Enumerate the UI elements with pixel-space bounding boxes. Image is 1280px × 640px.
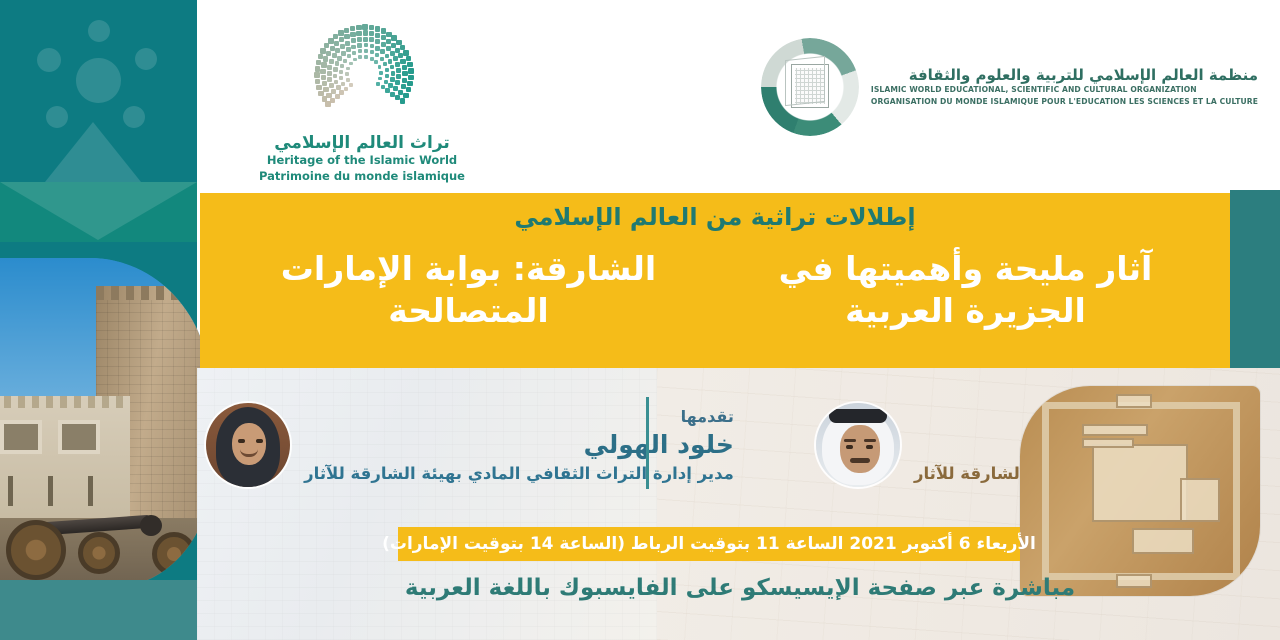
crescent-dot xyxy=(375,46,380,51)
crescent-dot xyxy=(340,44,345,49)
crescent-dot xyxy=(321,62,326,67)
crescent-dot xyxy=(333,67,338,72)
eye-shape xyxy=(256,439,263,443)
crescent-dot xyxy=(406,87,412,93)
eye-shape xyxy=(238,439,245,443)
wall-slot xyxy=(48,476,53,506)
circle-decoration-icon xyxy=(76,58,121,103)
face-shape xyxy=(232,423,266,465)
crescent-dot xyxy=(395,62,400,67)
crescent-dot xyxy=(349,62,353,66)
crescent-dot xyxy=(347,54,351,58)
poster-canvas: تراث العالم الإسلامي Heritage of the Isl… xyxy=(0,0,1280,640)
cannon-wheel xyxy=(6,520,66,580)
crescent-dot xyxy=(390,51,395,56)
crescent-dot xyxy=(316,60,322,66)
crescent-dot xyxy=(370,50,374,54)
crescent-dot xyxy=(353,58,357,62)
crescent-dot xyxy=(375,53,379,57)
crescent-dot xyxy=(406,56,412,62)
crescent-dot xyxy=(339,90,344,95)
poster-header: تراث العالم الإسلامي Heritage of the Isl… xyxy=(197,0,1280,193)
crescent-dot xyxy=(332,53,337,58)
schedule-text: الأربعاء 6 أكتوبر 2021 الساعة 11 بتوقيت … xyxy=(382,534,1036,554)
crescent-dot xyxy=(388,83,393,88)
series-kicker-text: إطلالات تراثية من العالم الإسلامي xyxy=(200,203,1230,231)
crescent-dot xyxy=(344,28,350,34)
crescent-dot xyxy=(403,93,409,99)
crescent-dot xyxy=(350,26,356,32)
crescent-dot xyxy=(358,49,362,53)
crescent-dot xyxy=(375,33,380,38)
crescent-dot xyxy=(370,57,374,61)
crescent-dot xyxy=(362,24,368,30)
crescent-dot xyxy=(386,46,391,51)
crescent-dot xyxy=(327,71,332,76)
crescent-dot xyxy=(385,88,390,93)
wall-window xyxy=(58,420,100,454)
crescent-dot xyxy=(393,56,398,61)
crescent-dot xyxy=(381,35,386,40)
crescent-dot xyxy=(346,67,350,71)
face-shape xyxy=(840,425,880,473)
heritage-logo-french-name: Patrimoine du monde islamique xyxy=(257,169,467,185)
speaker-card-left: تقدمها خلود الهولي مدير إدارة التراث الث… xyxy=(200,375,740,515)
site-room xyxy=(1082,438,1134,448)
crescent-dot xyxy=(390,92,395,97)
crescent-dot xyxy=(341,51,346,56)
speaker-left-name: خلود الهولي xyxy=(304,428,734,461)
broadcast-note: مباشرة عبر صفحة الإيسيسكو على الفايسبوك … xyxy=(200,575,1280,601)
cannon-muzzle xyxy=(140,515,162,536)
crescent-dot xyxy=(380,57,384,61)
crescent-dot xyxy=(358,55,362,59)
crescent-dot xyxy=(395,48,400,53)
crescent-dot xyxy=(400,45,406,51)
speakers-divider xyxy=(646,397,649,489)
crescent-dot xyxy=(370,44,375,49)
crescent-dot xyxy=(357,37,362,42)
crescent-dot xyxy=(363,30,368,35)
crescent-dot xyxy=(349,83,353,87)
schedule-bar: الأربعاء 6 أكتوبر 2021 الساعة 11 بتوقيت … xyxy=(398,527,1020,561)
crescent-dot xyxy=(381,42,386,47)
icesco-emblem-icon xyxy=(761,38,859,136)
eye-shape xyxy=(866,445,873,449)
crescent-dot xyxy=(400,59,405,64)
crescent-dot xyxy=(316,85,322,91)
crescent-dot xyxy=(329,83,334,88)
wall-window xyxy=(0,420,42,454)
crescent-dot xyxy=(364,49,368,53)
crescent-dot xyxy=(376,82,380,86)
crescent-dot xyxy=(323,87,328,92)
crescent-dot xyxy=(340,64,344,68)
icesco-logo-text: منظمة العالم الإسلامي للتربية والعلوم وا… xyxy=(871,66,1258,108)
crescent-dot xyxy=(330,46,335,51)
crescent-dot xyxy=(395,95,400,100)
crescent-dot xyxy=(391,35,397,41)
crescent-dot xyxy=(398,90,403,95)
crescent-dot xyxy=(383,62,387,66)
session-title-left: الشارقة: بوابة الإمارات المتصالحة xyxy=(200,248,715,332)
crescent-dot xyxy=(356,31,361,36)
crescent-dot xyxy=(393,86,398,91)
fort-photograph xyxy=(0,258,210,588)
crescent-dot xyxy=(381,28,387,34)
crescent-dot xyxy=(390,77,395,82)
triangle-decoration-icon xyxy=(45,122,141,182)
speaker-left-title: مدير إدارة التراث الثقافي المادي بهيئة ا… xyxy=(304,463,734,485)
crescent-dot xyxy=(386,32,392,38)
cannon-wheel xyxy=(152,532,196,576)
title-banner: إطلالات تراثية من العالم الإسلامي آثار م… xyxy=(200,193,1230,368)
crescent-dot xyxy=(335,61,340,66)
heritage-of-islamic-world-logo: تراث العالم الإسلامي Heritage of the Isl… xyxy=(257,22,467,184)
crescent-dot xyxy=(374,60,378,64)
avatar xyxy=(816,403,900,487)
crescent-dot xyxy=(369,25,375,31)
crescent-dot xyxy=(344,87,348,91)
session-title-right: آثار مليحة وأهميتها في الجزيرة العربية xyxy=(715,248,1230,332)
crescent-dot xyxy=(363,37,368,42)
crescent-dot xyxy=(407,62,413,68)
crescent-dot xyxy=(402,78,407,83)
crescent-dot xyxy=(384,80,388,84)
icesco-english-name: ISLAMIC WORLD EDUCATIONAL, SCIENTIFIC AN… xyxy=(871,84,1258,96)
icesco-logo: منظمة العالم الإسلامي للتربية والعلوم وا… xyxy=(761,38,1258,136)
crescent-dot xyxy=(386,39,391,44)
crescent-dot xyxy=(336,85,341,90)
crescent-dot xyxy=(375,39,380,44)
crescent-dot xyxy=(334,80,339,85)
agal-icon xyxy=(829,409,887,423)
crescent-dot xyxy=(341,82,345,86)
crescent-dot xyxy=(339,76,343,80)
crescent-dot xyxy=(385,54,390,59)
crescent-dot xyxy=(344,34,349,39)
eyebrow-shape xyxy=(864,439,876,442)
crescent-dot xyxy=(338,30,344,36)
crescent-dot xyxy=(408,68,414,74)
moustache-shape xyxy=(850,458,870,463)
icesco-french-name: ORGANISATION DU MONDE ISLAMIQUE POUR L'E… xyxy=(871,96,1258,108)
crescent-dot xyxy=(346,78,350,82)
crescent-dots-icon xyxy=(302,22,422,127)
crescent-dot xyxy=(396,68,401,73)
crescent-dot xyxy=(345,41,350,46)
crescent-dot xyxy=(385,68,389,72)
site-tower xyxy=(1116,394,1152,408)
crescent-dot xyxy=(315,79,321,85)
crescent-dot xyxy=(369,37,374,42)
crescent-dot xyxy=(350,32,355,37)
site-room xyxy=(1180,478,1220,522)
crescent-dot xyxy=(396,74,401,79)
icesco-arabic-name: منظمة العالم الإسلامي للتربية والعلوم وا… xyxy=(871,66,1258,84)
crescent-dot xyxy=(352,51,356,55)
circle-decoration-icon xyxy=(135,48,157,70)
crescent-dot xyxy=(402,65,407,70)
wall-slot xyxy=(8,476,13,506)
crescent-dot xyxy=(321,75,326,80)
crescent-dot xyxy=(378,77,382,81)
crescent-dot xyxy=(345,72,349,76)
crescent-dot xyxy=(402,71,407,76)
speaker-left-text: تقدمها خلود الهولي مدير إدارة التراث الث… xyxy=(304,406,734,485)
circle-decoration-icon xyxy=(88,20,110,42)
circle-decoration-icon xyxy=(37,48,61,72)
crescent-dot xyxy=(385,74,389,78)
crescent-dot xyxy=(364,55,368,59)
cannon-wheel xyxy=(78,532,120,574)
crescent-dot xyxy=(346,47,351,52)
crescent-dot xyxy=(391,43,396,48)
crescent-dot xyxy=(343,59,347,63)
crescent-dot xyxy=(351,38,356,43)
crescent-dot xyxy=(315,66,321,72)
eyebrow-shape xyxy=(844,439,856,442)
crescent-dot xyxy=(391,71,396,76)
crescent-dot xyxy=(400,98,406,104)
site-room xyxy=(1132,528,1194,554)
kaaba-cube-icon xyxy=(791,64,829,108)
crescent-dot xyxy=(326,51,331,56)
bottom-teal-band xyxy=(0,580,197,640)
crescent-dot xyxy=(327,77,332,82)
crescent-dot xyxy=(369,31,374,36)
crescent-dot xyxy=(388,59,393,64)
eye-shape xyxy=(846,445,853,449)
crescent-dot xyxy=(380,49,385,54)
crescent-dot xyxy=(379,71,383,75)
wall-slot xyxy=(88,476,93,506)
crescent-dot xyxy=(320,69,325,74)
crescent-dot xyxy=(333,74,338,79)
crescent-dot xyxy=(390,65,395,70)
crescent-dot xyxy=(357,43,362,48)
crescent-dot xyxy=(339,70,343,74)
flag-pole xyxy=(182,258,184,276)
crescent-dot xyxy=(403,50,409,56)
aerial-archaeology-photograph xyxy=(1020,386,1260,596)
crescent-dot xyxy=(333,34,339,40)
crescent-dot xyxy=(337,56,342,61)
crescent-dot xyxy=(364,43,369,48)
avatar xyxy=(206,403,290,487)
heritage-logo-english-name: Heritage of the Islamic World xyxy=(257,153,467,169)
session-titles: آثار مليحة وأهميتها في الجزيرة العربية ا… xyxy=(200,248,1230,332)
chevron-decoration-icon xyxy=(0,182,197,240)
crescent-dot xyxy=(339,37,344,42)
crescent-dot xyxy=(395,80,400,85)
site-room xyxy=(1082,424,1148,436)
crescent-dot xyxy=(323,56,328,61)
crescent-dot xyxy=(327,65,332,70)
crescent-dot xyxy=(375,26,381,32)
crescent-dot xyxy=(356,25,362,31)
crescent-dot xyxy=(378,65,382,69)
crescent-dot xyxy=(322,81,327,86)
crescent-dot xyxy=(398,53,403,58)
crescent-dot xyxy=(314,72,320,78)
right-teal-strip xyxy=(1230,190,1280,368)
crescent-dot xyxy=(351,45,356,50)
crescent-dot xyxy=(401,84,406,89)
heritage-logo-arabic-name: تراث العالم الإسلامي xyxy=(257,133,467,153)
site-inner-structure xyxy=(1092,444,1188,522)
speaker-left-role: تقدمها xyxy=(304,406,734,427)
crescent-dot xyxy=(408,75,414,81)
crescent-dot xyxy=(407,81,413,87)
crescent-dot xyxy=(329,59,334,64)
crescent-dot xyxy=(381,85,385,89)
